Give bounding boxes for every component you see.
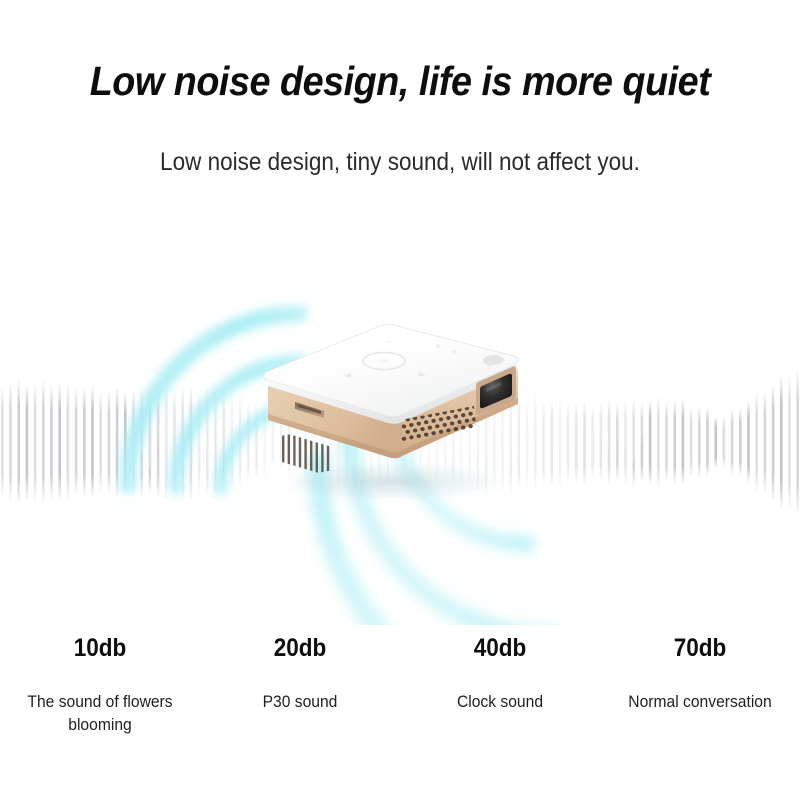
spec-item: 10db The sound of flowers blooming xyxy=(0,636,200,776)
page-subtitle: Low noise design, tiny sound, will not a… xyxy=(40,148,760,177)
spec-label: P30 sound xyxy=(212,691,389,714)
hero-illustration xyxy=(0,210,800,625)
mini-projector xyxy=(232,310,542,500)
spec-value: 40db xyxy=(414,636,587,661)
device-shadow xyxy=(264,460,520,500)
spec-item: 20db P30 sound xyxy=(200,636,400,776)
spec-item: 40db Clock sound xyxy=(400,636,600,776)
spec-label: The sound of flowers blooming xyxy=(12,691,189,737)
power-button-center xyxy=(380,359,389,363)
spec-row: 10db The sound of flowers blooming 20db … xyxy=(0,636,800,776)
spec-label: Normal conversation xyxy=(612,691,789,714)
spec-value: 20db xyxy=(214,636,387,661)
spec-label: Clock sound xyxy=(412,691,589,714)
spec-value: 70db xyxy=(614,636,787,661)
spec-item: 70db Normal conversation xyxy=(600,636,800,776)
spec-value: 10db xyxy=(14,636,187,661)
page-title: Low noise design, life is more quiet xyxy=(32,58,768,105)
marketing-slide: Low noise design, life is more quiet Low… xyxy=(0,0,800,800)
back-dot-icon[interactable] xyxy=(452,350,456,354)
menu-dot-icon[interactable] xyxy=(436,344,440,348)
